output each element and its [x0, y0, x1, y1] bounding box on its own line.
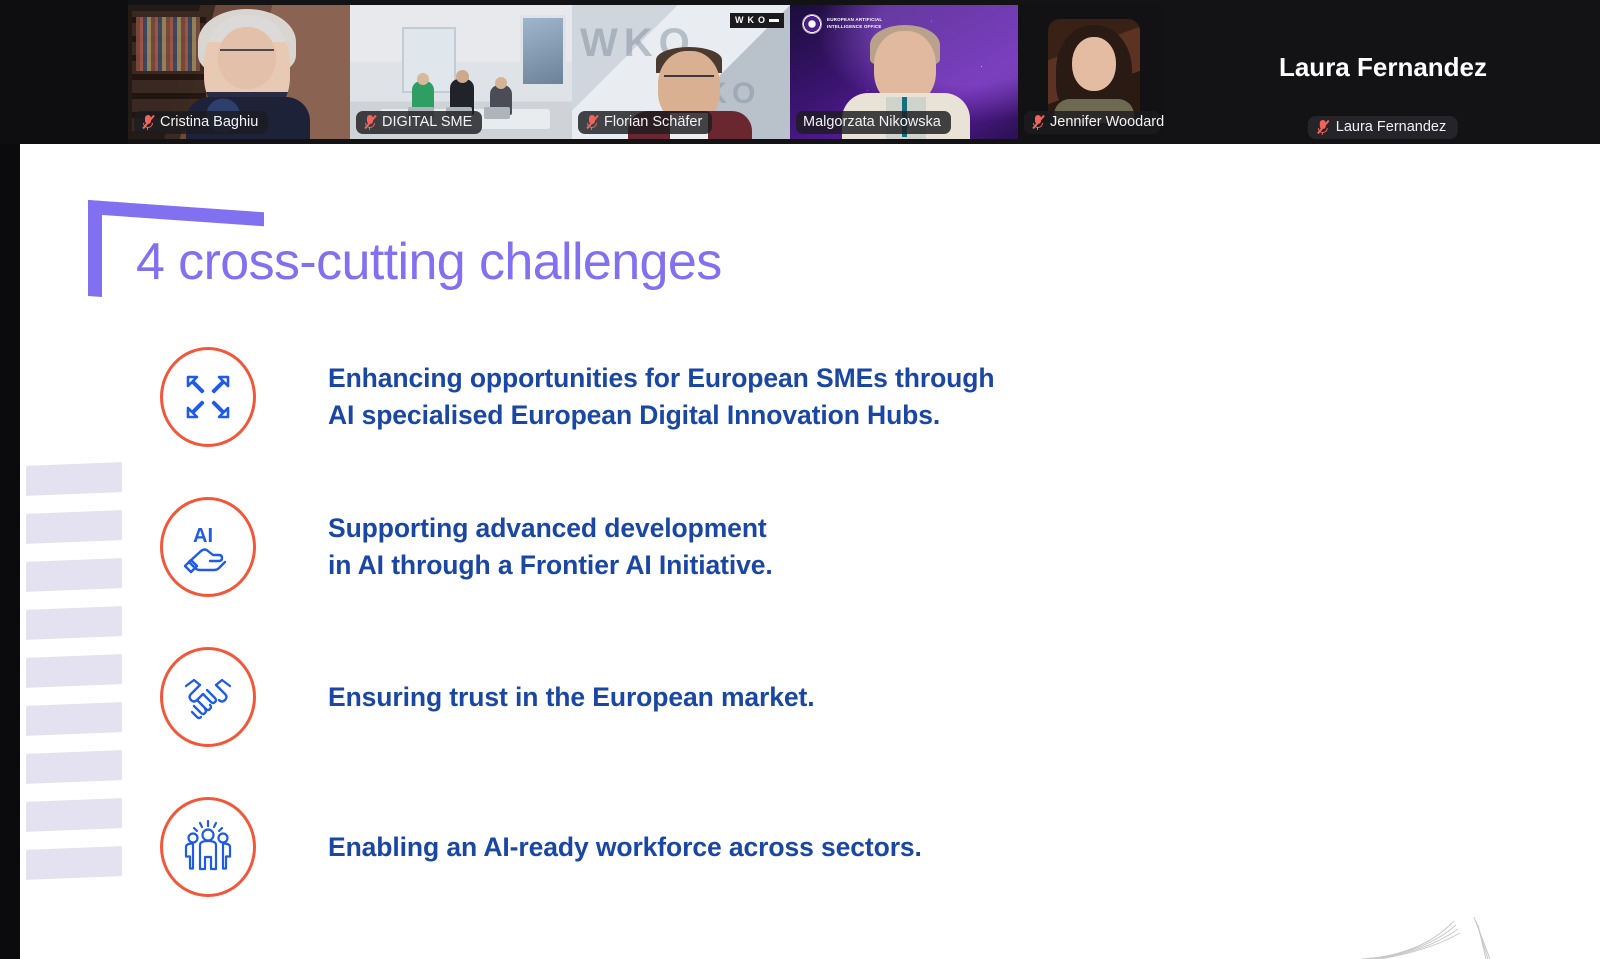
- mic-muted-icon: [1031, 114, 1044, 130]
- participant-name-pill: DIGITAL SME: [356, 111, 482, 134]
- page-title: 4 cross-cutting challenges: [136, 234, 722, 291]
- eu-ai-office-logo-icon: EUROPEAN ARTIFICIAL INTELLIGENCE OFFICE: [802, 14, 882, 34]
- challenge-line-1: Enabling an AI-ready workforce across se…: [328, 832, 922, 862]
- three-people-icon: [160, 797, 256, 897]
- challenge-line-2: AI specialised European Digital Innovati…: [328, 397, 994, 434]
- zoom-meeting-window: Cristina Baghiu DIGITAL SME: [0, 0, 1600, 959]
- filmstrip-left-gutter: [0, 0, 128, 144]
- ai-office-logo-line2: INTELLIGENCE OFFICE: [827, 24, 882, 31]
- mic-muted-icon: [363, 114, 376, 130]
- challenge-text: Enhancing opportunities for European SME…: [328, 360, 994, 433]
- screen-share-area: 4 cross-cutting challenges Enhancin: [0, 144, 1600, 959]
- participant-tile-digital-sme[interactable]: DIGITAL SME: [350, 5, 572, 139]
- participant-name-label: Malgorzata Nikowska: [803, 114, 941, 131]
- wko-logo-icon: WKO: [730, 13, 784, 28]
- participant-tile-malgorzata-nikowska[interactable]: EUROPEAN ARTIFICIAL INTELLIGENCE OFFICE …: [790, 5, 1018, 139]
- handshake-icon: [160, 647, 256, 747]
- list-item: AI Supporting advanced development in AI…: [160, 494, 1500, 600]
- decorative-swoosh: [1362, 903, 1512, 959]
- challenge-list: Enhancing opportunities for European SME…: [160, 344, 1500, 900]
- list-item: Ensuring trust in the European market.: [160, 644, 1500, 750]
- participant-tile-cristina-baghiu[interactable]: Cristina Baghiu: [128, 5, 350, 139]
- avatar: [1048, 19, 1140, 123]
- participant-display-name-large: Laura Fernandez: [1166, 54, 1600, 80]
- challenge-line-2: in AI through a Frontier AI Initiative.: [328, 547, 773, 584]
- challenge-text: Ensuring trust in the European market.: [328, 679, 815, 716]
- list-item: Enhancing opportunities for European SME…: [160, 344, 1500, 450]
- participant-tile-florian-schafer[interactable]: WKO WKO WKO Florian Schäfer: [572, 5, 790, 139]
- challenge-line-1: Ensuring trust in the European market.: [328, 682, 815, 712]
- participant-name-label: Laura Fernandez: [1336, 119, 1446, 136]
- participant-name-pill: Malgorzata Nikowska: [796, 111, 951, 134]
- arrows-converge-icon: [160, 347, 256, 447]
- participant-filmstrip: Cristina Baghiu DIGITAL SME: [0, 0, 1600, 144]
- mic-muted-icon: [585, 114, 598, 130]
- participant-name-label: Jennifer Woodard: [1050, 114, 1164, 131]
- participant-name-label: Cristina Baghiu: [160, 114, 258, 131]
- challenge-line-1: Supporting advanced development: [328, 513, 767, 543]
- participant-tile-laura-fernandez[interactable]: Laura Fernandez Laura Fernandez: [1166, 0, 1600, 144]
- hand-holding-ai-icon: AI: [160, 497, 256, 597]
- challenge-text: Enabling an AI-ready workforce across se…: [328, 829, 922, 866]
- challenge-text: Supporting advanced development in AI th…: [328, 510, 773, 583]
- list-item: Enabling an AI-ready workforce across se…: [160, 794, 1500, 900]
- participant-name-pill: Florian Schäfer: [578, 111, 712, 134]
- mic-muted-icon: [1316, 119, 1329, 135]
- participant-name-pill: Laura Fernandez: [1308, 116, 1458, 139]
- participant-name-label: DIGITAL SME: [382, 114, 472, 131]
- participant-tile-jennifer-woodard[interactable]: Jennifer Woodard: [1018, 5, 1166, 139]
- svg-text:AI: AI: [193, 525, 213, 547]
- participant-name-pill: Cristina Baghiu: [134, 111, 268, 134]
- decorative-stripes: [26, 464, 122, 959]
- participant-name-pill: Jennifer Woodard: [1024, 111, 1160, 134]
- challenge-line-1: Enhancing opportunities for European SME…: [328, 363, 994, 393]
- participant-name-label: Florian Schäfer: [604, 114, 702, 131]
- presentation-slide: 4 cross-cutting challenges Enhancin: [20, 144, 1600, 959]
- mic-muted-icon: [141, 114, 154, 130]
